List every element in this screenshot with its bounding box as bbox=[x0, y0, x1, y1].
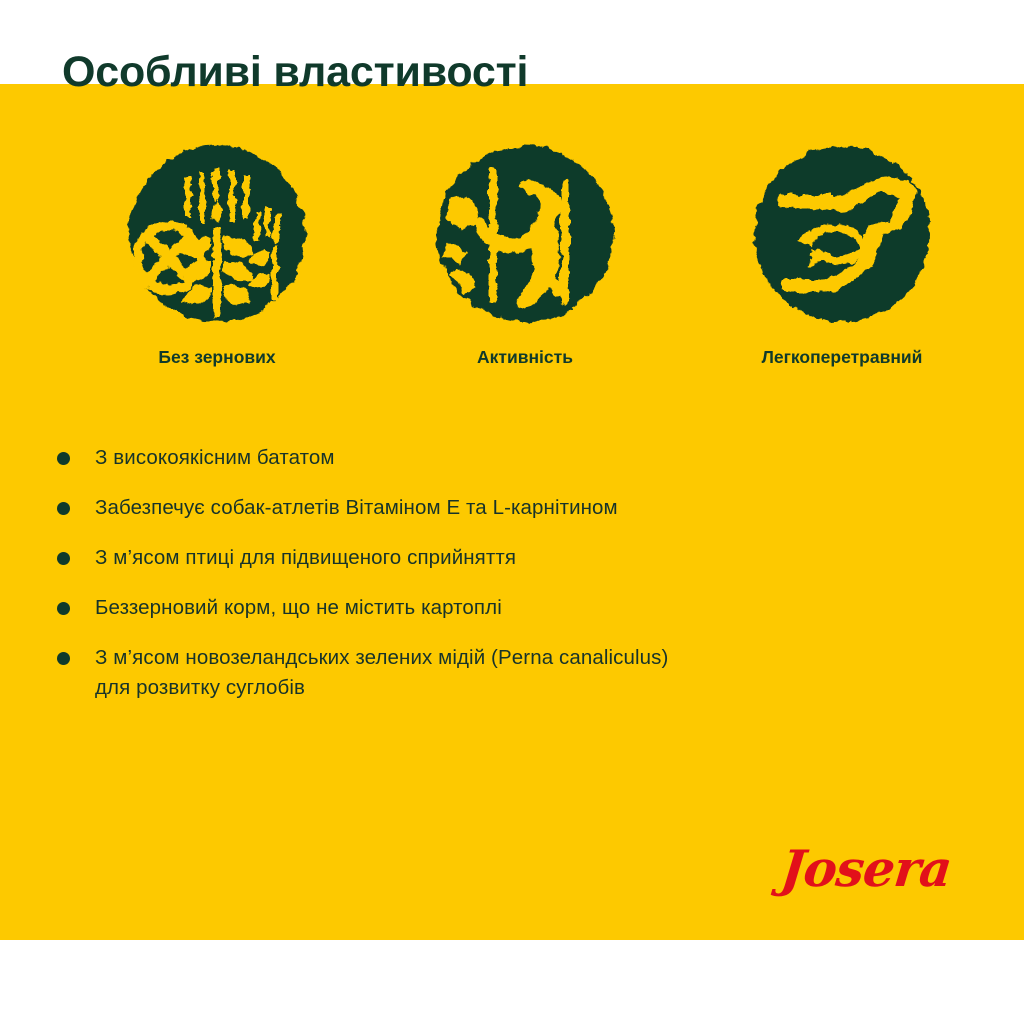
feature-item-activity: Активність bbox=[395, 142, 655, 367]
list-item-text-line1: З м’ясом новозеландських зелених мідій (… bbox=[95, 646, 668, 669]
bullet-dot-icon bbox=[57, 452, 70, 465]
feature-item-easy-digestible: Легкоперетравний bbox=[712, 142, 972, 367]
list-item: З високоякісним бататом bbox=[55, 443, 955, 472]
bullet-dot-icon bbox=[57, 502, 70, 515]
list-item: Беззерновий корм, що не містить картоплі bbox=[55, 593, 955, 622]
list-item-text: Забезпечує собак-атлетів Вітаміном Е та … bbox=[95, 496, 618, 519]
feature-label: Активність bbox=[395, 348, 655, 367]
bullet-dot-icon bbox=[57, 602, 70, 615]
list-item: З м’ясом новозеландських зелених мідій (… bbox=[55, 643, 955, 701]
list-item-text: З високоякісним бататом bbox=[95, 446, 335, 469]
josera-logo: Josera bbox=[778, 838, 978, 900]
feature-icon-row: Без зернових bbox=[0, 142, 1024, 392]
bullet-dot-icon bbox=[57, 652, 70, 665]
feature-item-grain-free: Без зернових bbox=[87, 142, 347, 367]
grain-free-icon bbox=[125, 142, 309, 326]
activity-dog-agility-icon bbox=[433, 142, 617, 326]
bullet-dot-icon bbox=[57, 552, 70, 565]
feature-label: Легкоперетравний bbox=[712, 348, 972, 367]
list-item: З м’ясом птиці для підвищеного сприйнятт… bbox=[55, 543, 955, 572]
feature-label: Без зернових bbox=[87, 348, 347, 367]
list-item-text: Беззерновий корм, що не містить картоплі bbox=[95, 596, 502, 619]
list-item: Забезпечує собак-атлетів Вітаміном Е та … bbox=[55, 493, 955, 522]
feature-bullet-list: З високоякісним бататом Забезпечує собак… bbox=[55, 443, 955, 723]
josera-logo-text: Josera bbox=[778, 838, 985, 900]
list-item-text-line2: для розвитку суглобів bbox=[95, 673, 955, 702]
page-title: Особливі властивості bbox=[62, 48, 528, 97]
feature-highlights-panel: Особливі властивості bbox=[0, 0, 1024, 1024]
list-item-text: З м’ясом новозеландських зелених мідій (… bbox=[95, 646, 955, 701]
list-item-text: З м’ясом птиці для підвищеного сприйнятт… bbox=[95, 546, 516, 569]
easy-digestible-dog-icon bbox=[750, 142, 934, 326]
